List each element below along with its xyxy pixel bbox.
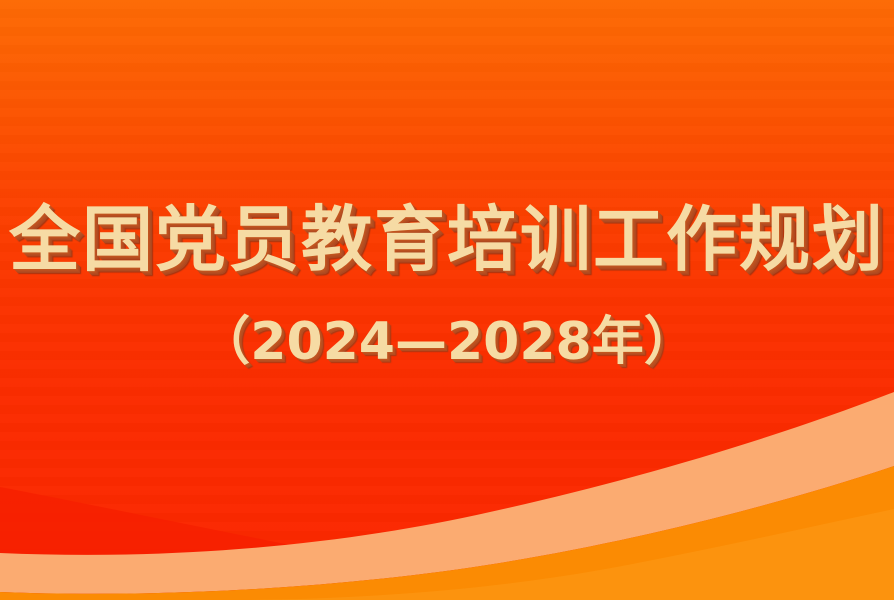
decorative-swoosh-group: [0, 0, 894, 600]
banner-poster: 全国党员教育培训工作规划 （2024—2028年）: [0, 0, 894, 600]
